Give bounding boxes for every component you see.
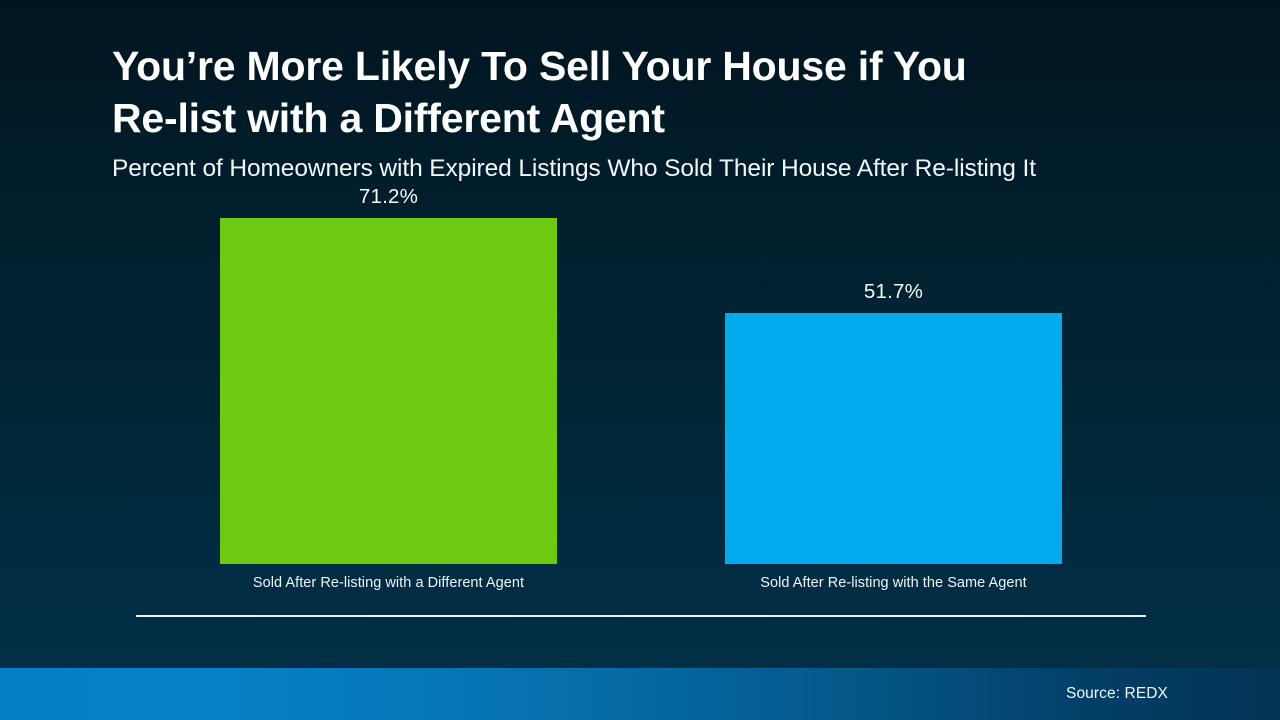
source-label: Source: REDX	[1066, 685, 1168, 703]
bar-different-agent[interactable]	[220, 218, 557, 564]
bar-group-different-agent: 71.2% Sold After Re-listing with a Diffe…	[220, 218, 557, 564]
category-label-same-agent: Sold After Re-listing with the Same Agen…	[725, 575, 1062, 591]
bar-group-same-agent: 51.7% Sold After Re-listing with the Sam…	[725, 313, 1062, 564]
chart-plot-area: 71.2% Sold After Re-listing with a Diffe…	[0, 0, 1280, 668]
slide-footer-bar: Source: REDX	[0, 668, 1280, 720]
bar-same-agent[interactable]	[725, 313, 1062, 564]
category-label-different-agent: Sold After Re-listing with a Different A…	[220, 575, 557, 591]
chart-slide: You’re More Likely To Sell Your House if…	[0, 0, 1280, 720]
bar-value-label-different-agent: 71.2%	[220, 185, 557, 209]
bar-value-label-same-agent: 51.7%	[725, 280, 1062, 304]
chart-axis-line	[136, 615, 1146, 617]
